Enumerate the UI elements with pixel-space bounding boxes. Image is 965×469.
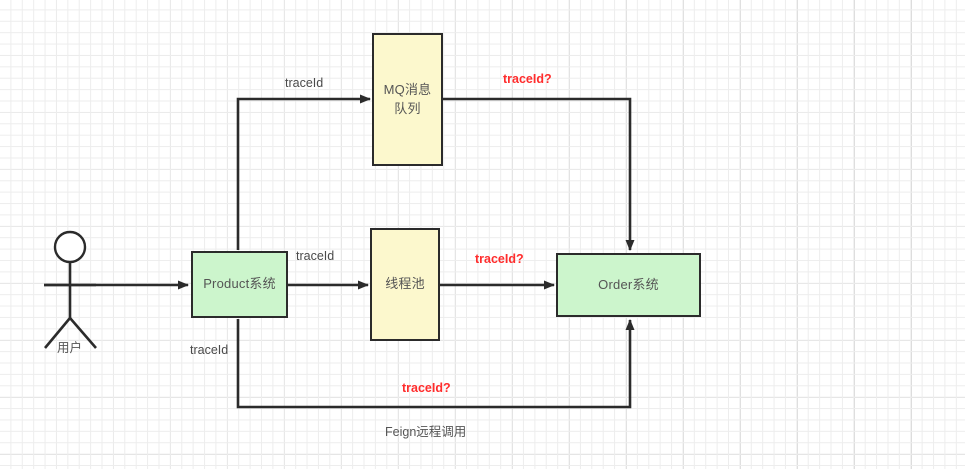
edge-label-threadpool-to-order: traceId? [475,252,524,266]
node-mq-label: MQ消息 队列 [384,81,432,119]
edge-label-feign-to-order: traceId? [402,381,451,395]
node-mq-label-line2: 队列 [394,101,420,116]
diagram-canvas: Product系统 MQ消息 队列 线程池 Order系统 traceId tr… [0,0,965,469]
edge-caption-feign: Feign远程调用 [385,421,466,440]
node-thread-pool-label: 线程池 [385,275,425,294]
node-mq-queue[interactable]: MQ消息 队列 [372,33,443,166]
edge-label-product-to-threadpool: traceId [296,249,334,263]
node-product-system[interactable]: Product系统 [191,251,288,318]
user-actor-figure [44,232,96,348]
edge-label-mq-to-order: traceId? [503,72,552,86]
edge-label-product-feign-out: traceId [190,343,228,357]
node-product-label: Product系统 [203,275,276,294]
node-thread-pool[interactable]: 线程池 [370,228,440,341]
edge-mq-to-order [443,99,630,250]
edge-product-to-mq [238,99,370,250]
edge-label-product-to-mq: traceId [285,76,323,90]
node-order-label: Order系统 [598,276,659,295]
node-order-system[interactable]: Order系统 [556,253,701,317]
node-mq-label-line1: MQ消息 [384,82,432,97]
connector-layer [0,0,965,469]
user-actor-label: 用户 [57,337,82,356]
